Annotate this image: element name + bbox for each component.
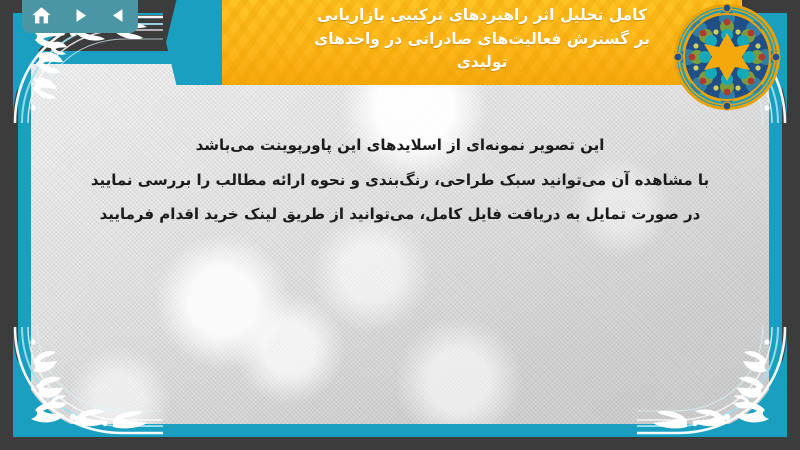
next-arrow-icon[interactable]: [67, 3, 93, 27]
content-frame: [18, 51, 782, 437]
banner-arrow-tip: [166, 0, 224, 85]
home-icon[interactable]: [28, 3, 54, 27]
presentation-slide: این تصویر نمونه‌ای از اسلایدهای این پاور…: [0, 0, 800, 450]
body-line-2: با مشاهده آن می‌توانید سبک طراحی، رنگ‌بن…: [40, 163, 760, 198]
slide-body-text: این تصویر نمونه‌ای از اسلایدهای این پاور…: [40, 128, 760, 232]
navigation-bar[interactable]: [22, 0, 138, 33]
slide-title: کامل تحلیل اثر راهبردهای ترکیبی بازاریاب…: [222, 0, 742, 75]
previous-arrow-icon[interactable]: [106, 3, 132, 27]
content-panel-background: [31, 64, 769, 424]
title-line-1: کامل تحلیل اثر راهبردهای ترکیبی بازاریاب…: [236, 4, 728, 28]
title-banner: کامل تحلیل اثر راهبردهای ترکیبی بازاریاب…: [222, 0, 742, 85]
body-line-1: این تصویر نمونه‌ای از اسلایدهای این پاور…: [40, 128, 760, 163]
body-line-3: در صورت تمایل به دریافت فایل کامل، می‌تو…: [40, 197, 760, 232]
title-line-2: بر گسترش فعالیت‌های صادراتی در واحدهای: [236, 28, 728, 52]
title-line-3: تولیدی: [236, 51, 728, 75]
